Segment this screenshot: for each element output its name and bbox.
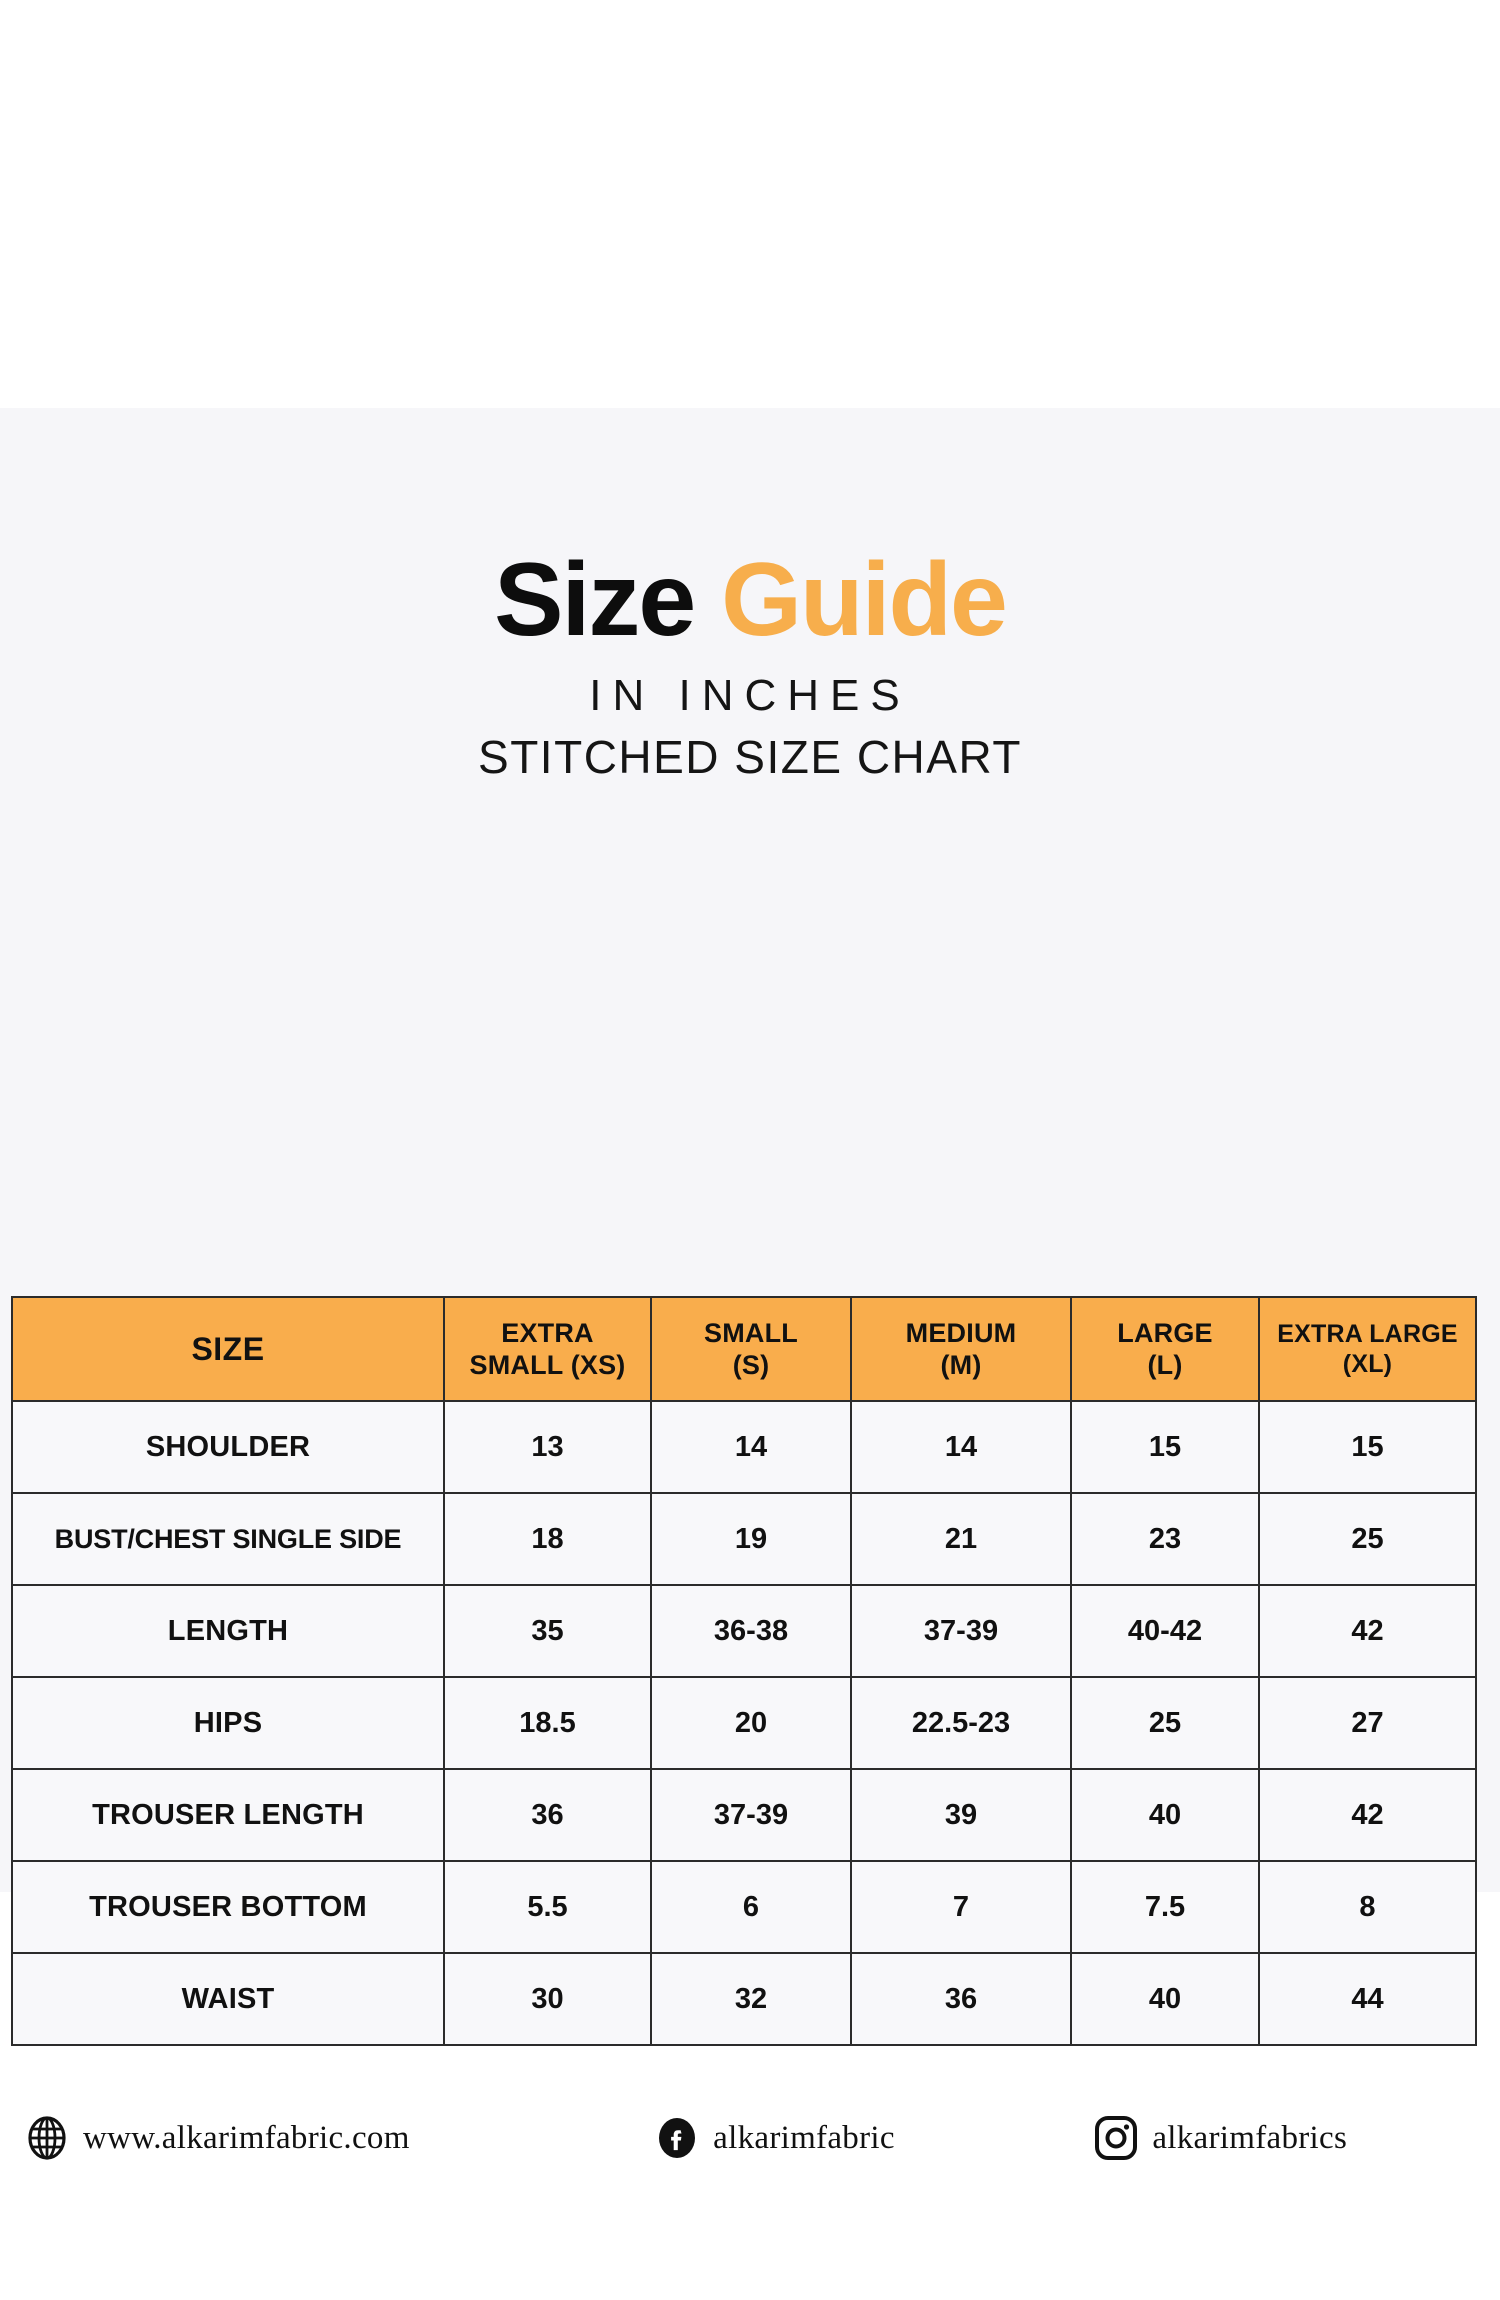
cell-bust-s: 19 [651,1493,851,1585]
cell-hips-l: 25 [1071,1677,1259,1769]
cell-shoulder-s: 14 [651,1401,851,1493]
facebook-label: alkarimfabric [713,2120,895,2157]
cell-shoulder-l: 15 [1071,1401,1259,1493]
cell-hips-m: 22.5-23 [851,1677,1071,1769]
table-row: TROUSER LENGTH 36 37-39 39 40 42 [12,1769,1476,1861]
column-header-s: SMALL(S) [651,1297,851,1401]
size-guide-page: Size Guide IN INCHES STITCHED SIZE CHART… [0,0,1500,2300]
size-chart-table: SIZE EXTRASMALL (XS) SMALL(S) MEDIUM(M) … [11,1296,1477,2046]
cell-trouser-length-xl: 42 [1259,1769,1476,1861]
cell-waist-s: 32 [651,1953,851,2045]
cell-length-s: 36-38 [651,1585,851,1677]
cell-length-m: 37-39 [851,1585,1071,1677]
row-label-trouser-length: TROUSER LENGTH [12,1769,444,1861]
website-label: www.alkarimfabric.com [83,2120,410,2157]
table-header-row: SIZE EXTRASMALL (XS) SMALL(S) MEDIUM(M) … [12,1297,1476,1401]
page-title: Size Guide [0,548,1500,652]
subtitle-in-inches: IN INCHES [0,672,1500,720]
instagram-label: alkarimfabrics [1152,2120,1347,2157]
row-label-hips: HIPS [12,1677,444,1769]
cell-bust-m: 21 [851,1493,1071,1585]
cell-hips-s: 20 [651,1677,851,1769]
table-body: SHOULDER 13 14 14 15 15 BUST/CHEST SINGL… [12,1401,1476,2045]
row-label-trouser-bottom: TROUSER BOTTOM [12,1861,444,1953]
cell-trouser-bottom-s: 6 [651,1861,851,1953]
row-label-shoulder: SHOULDER [12,1401,444,1493]
cell-hips-xs: 18.5 [444,1677,651,1769]
cell-trouser-bottom-l: 7.5 [1071,1861,1259,1953]
table-row: WAIST 30 32 36 40 44 [12,1953,1476,2045]
instagram-link[interactable]: alkarimfabrics [1094,2116,1475,2160]
table-row: HIPS 18.5 20 22.5-23 25 27 [12,1677,1476,1769]
cell-trouser-length-l: 40 [1071,1769,1259,1861]
row-label-length: LENGTH [12,1585,444,1677]
title-word-size: Size [494,542,694,658]
cell-shoulder-m: 14 [851,1401,1071,1493]
cell-length-xs: 35 [444,1585,651,1677]
cell-trouser-bottom-xs: 5.5 [444,1861,651,1953]
footer: www.alkarimfabric.com alkarimfabric alka… [11,2098,1475,2178]
cell-bust-xl: 25 [1259,1493,1476,1585]
title-word-guide: Guide [721,542,1006,658]
globe-icon [25,2116,69,2160]
cell-waist-xl: 44 [1259,1953,1476,2045]
table-row: LENGTH 35 36-38 37-39 40-42 42 [12,1585,1476,1677]
row-label-bust-chest-single-side: BUST/CHEST SINGLE SIDE [12,1493,444,1585]
instagram-icon [1094,2116,1138,2160]
column-header-m: MEDIUM(M) [851,1297,1071,1401]
cell-trouser-length-xs: 36 [444,1769,651,1861]
subtitle-stitched-size-chart: STITCHED SIZE CHART [0,732,1500,783]
cell-length-xl: 42 [1259,1585,1476,1677]
table-row: BUST/CHEST SINGLE SIDE 18 19 21 23 25 [12,1493,1476,1585]
column-header-l: LARGE(L) [1071,1297,1259,1401]
table-row: SHOULDER 13 14 14 15 15 [12,1401,1476,1493]
table-header: SIZE EXTRASMALL (XS) SMALL(S) MEDIUM(M) … [12,1297,1476,1401]
cell-bust-xs: 18 [444,1493,651,1585]
facebook-link[interactable]: alkarimfabric [655,2116,1094,2160]
column-header-size: SIZE [12,1297,444,1401]
table-row: TROUSER BOTTOM 5.5 6 7 7.5 8 [12,1861,1476,1953]
cell-length-l: 40-42 [1071,1585,1259,1677]
facebook-icon [655,2116,699,2160]
cell-waist-m: 36 [851,1953,1071,2045]
cell-shoulder-xs: 13 [444,1401,651,1493]
cell-trouser-bottom-m: 7 [851,1861,1071,1953]
cell-trouser-length-s: 37-39 [651,1769,851,1861]
cell-bust-l: 23 [1071,1493,1259,1585]
cell-shoulder-xl: 15 [1259,1401,1476,1493]
title-block: Size Guide IN INCHES STITCHED SIZE CHART [0,548,1500,783]
cell-waist-l: 40 [1071,1953,1259,2045]
row-label-waist: WAIST [12,1953,444,2045]
column-header-xl: EXTRA LARGE(XL) [1259,1297,1476,1401]
cell-trouser-length-m: 39 [851,1769,1071,1861]
website-link[interactable]: www.alkarimfabric.com [11,2116,655,2160]
cell-waist-xs: 30 [444,1953,651,2045]
cell-hips-xl: 27 [1259,1677,1476,1769]
size-guide-card: Size Guide IN INCHES STITCHED SIZE CHART… [0,408,1500,1892]
column-header-xs: EXTRASMALL (XS) [444,1297,651,1401]
cell-trouser-bottom-xl: 8 [1259,1861,1476,1953]
